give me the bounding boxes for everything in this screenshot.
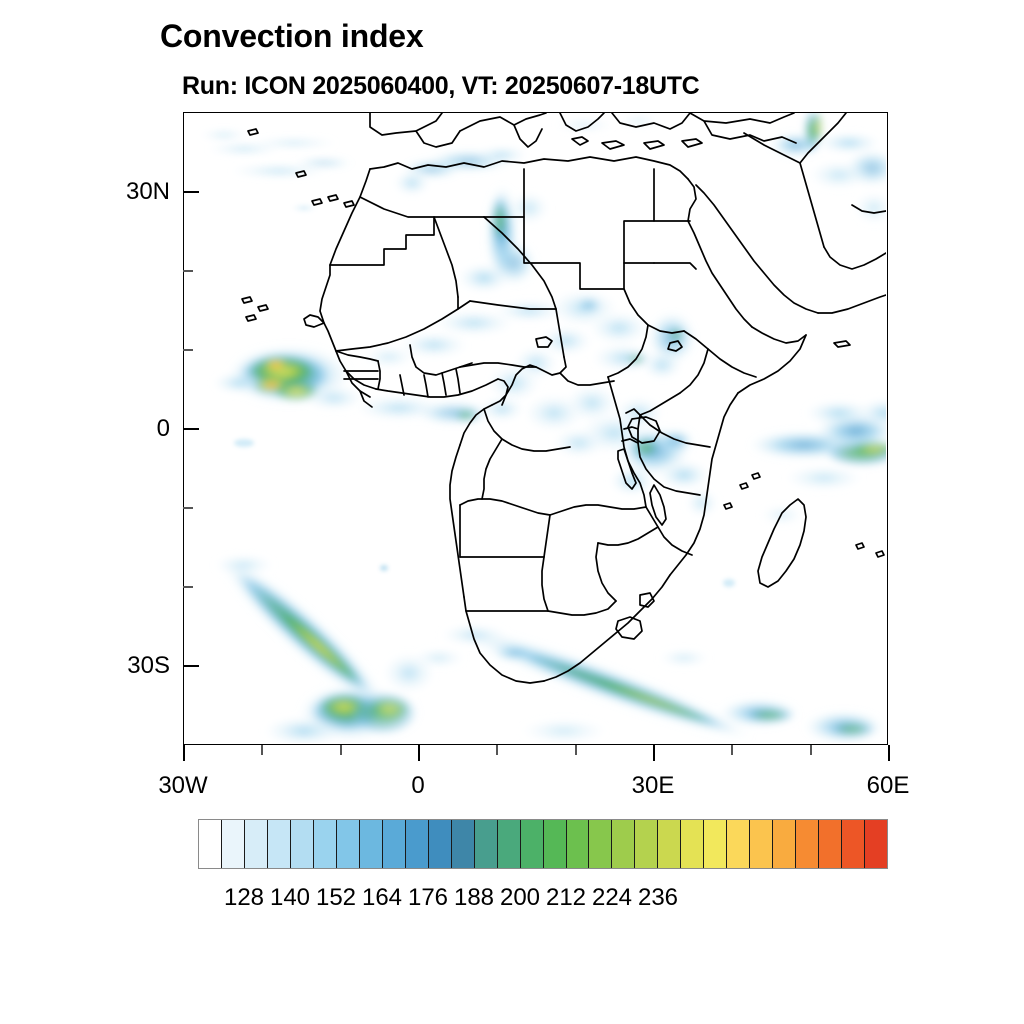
x-tick-0 — [418, 745, 420, 761]
page-title: Convection index — [160, 18, 424, 55]
colorbar-cell — [521, 820, 544, 868]
colorbar-cell — [773, 820, 796, 868]
x-label-0: 0 — [368, 772, 468, 800]
colorbar-cell — [199, 820, 222, 868]
colorbar-cell — [360, 820, 383, 868]
x-tick-30e — [653, 745, 655, 761]
colorbar-cell — [498, 820, 521, 868]
colorbar-cell — [544, 820, 567, 868]
colorbar-cell — [245, 820, 268, 868]
y-tick-15s — [183, 507, 193, 509]
colorbar-cell — [635, 820, 658, 868]
x-label-60e: 60E — [838, 772, 938, 800]
colorbar-cell — [383, 820, 406, 868]
y-tick-15s-b — [183, 586, 193, 588]
y-label-0: 0 — [92, 415, 170, 443]
colorbar-cell — [704, 820, 727, 868]
x-tick-20w — [261, 745, 263, 755]
map-canvas — [184, 113, 886, 743]
colorbar-tick-label: 236 — [618, 884, 698, 912]
x-label-30w: 30W — [133, 772, 233, 800]
colorbar[interactable] — [198, 819, 888, 869]
map-plot-area[interactable] — [183, 112, 888, 745]
colorbar-cell — [429, 820, 452, 868]
x-tick-10e — [496, 745, 498, 755]
colorbar-cell — [750, 820, 773, 868]
colorbar-cell — [406, 820, 429, 868]
x-tick-10w — [340, 745, 342, 755]
colorbar-cell — [337, 820, 360, 868]
colorbar-cell — [291, 820, 314, 868]
x-label-30e: 30E — [603, 772, 703, 800]
y-tick-30n — [183, 191, 199, 193]
colorbar-cell — [589, 820, 612, 868]
colorbar-cell — [842, 820, 865, 868]
colorbar-cell — [475, 820, 498, 868]
x-tick-20e — [575, 745, 577, 755]
colorbar-cell — [268, 820, 291, 868]
colorbar-cell — [796, 820, 819, 868]
colorbar-cell — [819, 820, 842, 868]
y-tick-0 — [183, 428, 199, 430]
convection-index-chart: Convection index Run: ICON 2025060400, V… — [0, 0, 1024, 1024]
x-tick-60e — [888, 745, 890, 761]
colorbar-cell — [612, 820, 635, 868]
colorbar-cell — [314, 820, 337, 868]
y-tick-15n-b — [183, 349, 193, 351]
y-tick-15n — [183, 270, 193, 272]
y-label-30s: 30S — [92, 652, 170, 680]
x-tick-50e — [810, 745, 812, 755]
colorbar-cell — [452, 820, 475, 868]
colorbar-cell — [727, 820, 750, 868]
colorbar-cell — [681, 820, 704, 868]
chart-subtitle: Run: ICON 2025060400, VT: 20250607-18UTC — [182, 72, 699, 101]
x-tick-30w — [183, 745, 185, 761]
x-tick-40e — [731, 745, 733, 755]
colorbar-cell — [865, 820, 887, 868]
y-tick-30s — [183, 665, 199, 667]
colorbar-cell — [567, 820, 590, 868]
y-label-30n: 30N — [92, 178, 170, 206]
colorbar-cell — [222, 820, 245, 868]
colorbar-cell — [658, 820, 681, 868]
